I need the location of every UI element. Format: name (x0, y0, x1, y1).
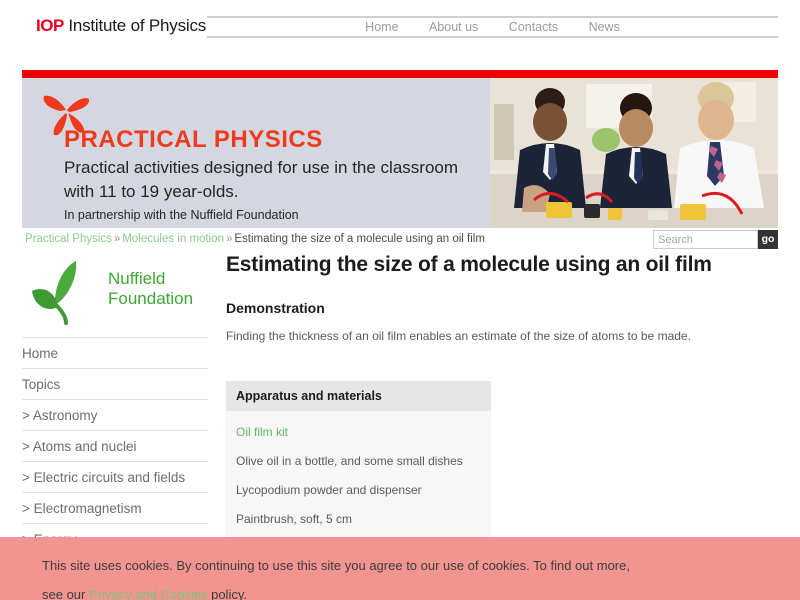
breadcrumb-link-root[interactable]: Practical Physics (25, 233, 112, 245)
search-box: go (653, 230, 778, 249)
sidebar-item-atoms-and-nuclei[interactable]: > Atoms and nuclei (22, 431, 208, 462)
nav-item-contacts[interactable]: Contacts (496, 18, 571, 36)
cookie-message-line2-after: policy. (207, 587, 247, 600)
breadcrumb-separator-2: » (224, 233, 234, 245)
practical-physics-banner: PRACTICAL PHYSICS Practical activities d… (22, 70, 778, 228)
nuffield-logo-line2: Foundation (108, 289, 193, 309)
page-title: Estimating the size of a molecule using … (226, 252, 778, 278)
search-go-button[interactable]: go (758, 230, 778, 249)
sidebar-item-home[interactable]: Home (22, 337, 208, 369)
cookie-message-line2-before: see our (42, 587, 89, 600)
apparatus-item-olive-oil: Olive oil in a bottle, and some small di… (236, 447, 481, 476)
cookie-message-line1: This site uses cookies. By continuing to… (42, 558, 630, 573)
breadcrumb-link-section[interactable]: Molecules in motion (122, 233, 224, 245)
demonstration-heading: Demonstration (226, 300, 778, 316)
apparatus-item-oil-film-kit[interactable]: Oil film kit (236, 418, 481, 447)
iop-logo[interactable]: IOP Institute of Physics (36, 16, 206, 36)
nuffield-foundation-logo[interactable]: Nuffield Foundation (22, 255, 208, 331)
top-navigation: Home About us Contacts News (207, 16, 778, 38)
sidebar-item-electromagnetism[interactable]: > Electromagnetism (22, 493, 208, 524)
cookie-message: This site uses cookies. By continuing to… (42, 551, 732, 600)
apparatus-heading: Apparatus and materials (226, 381, 491, 411)
nav-item-news[interactable]: News (576, 18, 633, 36)
apparatus-item-lycopodium-powder: Lycopodium powder and dispenser (236, 476, 481, 505)
banner-subtitle: Practical activities designed for use in… (64, 156, 464, 204)
breadcrumb-current: Estimating the size of a molecule using … (234, 233, 485, 245)
banner-red-bar (22, 70, 778, 78)
search-input[interactable] (653, 230, 758, 249)
apparatus-item-paintbrush: Paintbrush, soft, 5 cm (236, 505, 481, 534)
breadcrumb-separator-1: » (112, 233, 122, 245)
breadcrumb: Practical Physics»Molecules in motion»Es… (25, 233, 485, 245)
banner-title: PRACTICAL PHYSICS (64, 126, 323, 154)
nav-item-home[interactable]: Home (352, 18, 411, 36)
privacy-and-cookies-link[interactable]: Privacy and Cookies (89, 587, 208, 600)
sidebar-item-astronomy[interactable]: > Astronomy (22, 400, 208, 431)
page-root: IOP Institute of Physics Home About us C… (0, 0, 800, 600)
banner-text-panel: PRACTICAL PHYSICS Practical activities d… (22, 78, 490, 228)
banner-partner-line: In partnership with the Nuffield Foundat… (64, 208, 299, 222)
nuffield-logo-line1: Nuffield (108, 269, 193, 289)
main-content: Estimating the size of a molecule using … (226, 252, 778, 573)
nuffield-leaf-icon (22, 255, 108, 325)
top-nav-list: Home About us Contacts News (352, 18, 633, 36)
iop-logo-mark: IOP (36, 16, 64, 35)
cookie-consent-banner: This site uses cookies. By continuing to… (0, 537, 800, 600)
nuffield-logo-text: Nuffield Foundation (108, 269, 193, 309)
site-header: IOP Institute of Physics Home About us C… (0, 0, 800, 46)
demonstration-description: Finding the thickness of an oil film ena… (226, 328, 778, 345)
banner-students-photo (490, 78, 778, 228)
sidebar-item-electric-circuits-and-fields[interactable]: > Electric circuits and fields (22, 462, 208, 493)
students-photo-illustration (490, 78, 778, 228)
sidebar-item-topics[interactable]: Topics (22, 369, 208, 400)
iop-logo-text: Institute of Physics (64, 16, 206, 35)
nav-item-about-us[interactable]: About us (416, 18, 491, 36)
